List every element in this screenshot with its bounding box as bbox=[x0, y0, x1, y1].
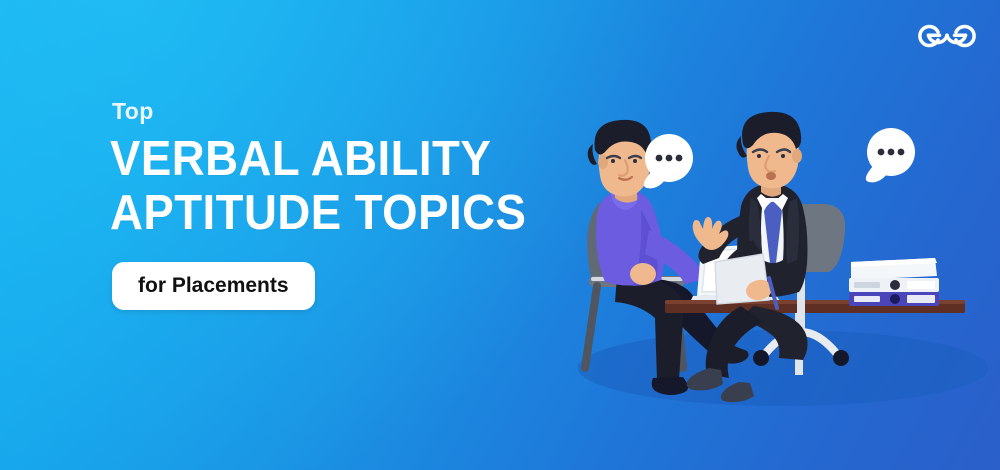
page-title-line-1: VERBAL ABILITY bbox=[110, 137, 510, 183]
page-title-line-2: APTITUDE TOPICS bbox=[110, 191, 510, 237]
geeksforgeeks-logo[interactable] bbox=[916, 18, 978, 52]
candidate-hand bbox=[630, 263, 656, 285]
interview-illustration bbox=[545, 110, 1000, 410]
banner-root: Top VERBAL ABILITY APTITUDE TOPICS for P… bbox=[0, 0, 1000, 470]
status-badge: for Placements bbox=[112, 262, 315, 310]
headline-group: Top VERBAL ABILITY APTITUDE TOPICS for P… bbox=[110, 100, 540, 310]
speech-bubble-right bbox=[866, 128, 915, 182]
binder-stack bbox=[849, 258, 939, 306]
speech-bubble-left bbox=[644, 134, 693, 188]
eyebrow-text: Top bbox=[112, 100, 540, 123]
